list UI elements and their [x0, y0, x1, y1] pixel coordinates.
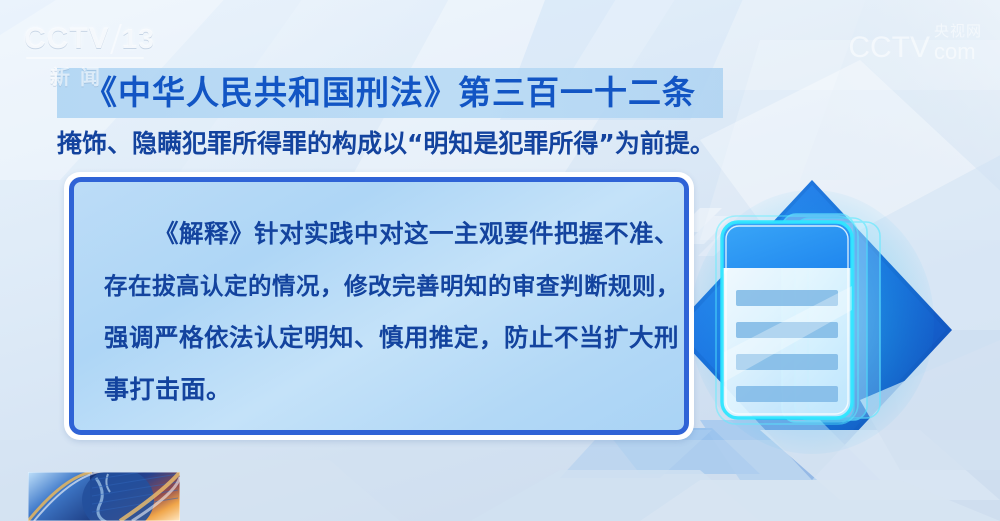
logo-news-label: 新闻	[50, 61, 164, 90]
logo-cctv-text: CCTV	[24, 22, 110, 56]
logo-slash	[110, 24, 122, 54]
cctv-com-watermark: CCTV 央视网 com	[848, 24, 982, 63]
body-line-3: 强调严格依法认定明知、慎用推定，防止不当扩大刑	[104, 312, 662, 364]
logo-underline	[26, 57, 144, 59]
body-line-1: 《解释》针对实践中对这一主观要件把握不准、	[104, 208, 662, 260]
watermark-com-text: com	[934, 41, 976, 63]
news-globe-graphic	[28, 466, 180, 521]
body-text: 《解释》针对实践中对这一主观要件把握不准、 存在拔高认定的情况，修改完善明知的审…	[104, 208, 662, 416]
page-title: 《中华人民共和国刑法》第三百一十二条	[84, 72, 696, 114]
cctv13-news-logo: CCTV 13 新闻	[24, 22, 164, 84]
body-panel-border: 《解释》针对实践中对这一主观要件把握不准、 存在拔高认定的情况，修改完善明知的审…	[69, 177, 689, 435]
body-text-panel: 《解释》针对实践中对这一主观要件把握不准、 存在拔高认定的情况，修改完善明知的审…	[64, 172, 694, 440]
watermark-cctv-text: CCTV	[848, 33, 930, 63]
body-line-4: 事打击面。	[104, 364, 662, 416]
watermark-right-group: 央视网 com	[934, 24, 982, 63]
body-line-2: 存在拔高认定的情况，修改完善明知的审查判断规则，	[104, 260, 662, 312]
logo-channel-number: 13	[122, 23, 155, 55]
page-subtitle: 掩饰、隐瞒犯罪所得罪的构成以“明知是犯罪所得”为前提。	[57, 128, 715, 160]
document-lines-icon	[690, 190, 934, 454]
logo-mark: CCTV 13	[24, 22, 164, 56]
broadcast-frame: CCTV 13 新闻 CCTV 央视网 com 《中华人民共和国刑法》第三百一十…	[0, 0, 1000, 521]
